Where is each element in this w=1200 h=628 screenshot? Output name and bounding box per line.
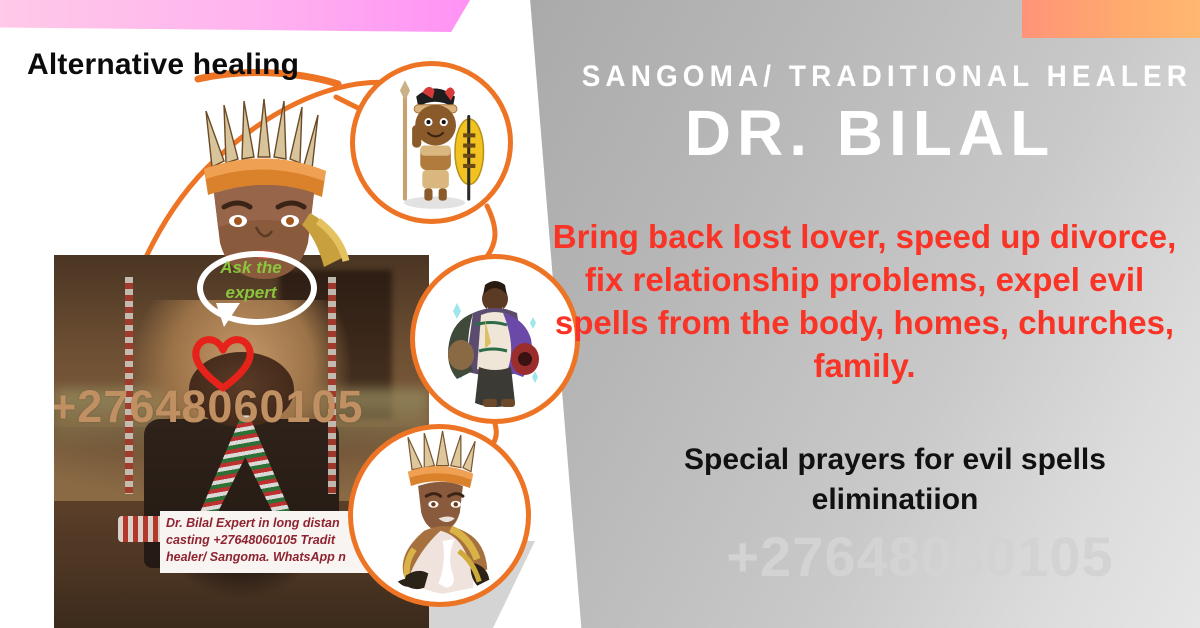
page-title: Alternative healing [27,48,299,82]
photo-caption: Dr. Bilal Expert in long distan casting … [160,511,378,573]
circle-zulu-dancer-illustration [348,424,531,607]
circle-zulu-warrior-cartoon [350,61,513,224]
poster-canvas: Alternative healing [0,0,1200,628]
top-orange-bar [1022,0,1200,38]
caption-line-2: casting +27648060105 Tradit [166,532,372,549]
brand-name: DR. BILAL [560,100,1180,167]
services-red-text: Bring back lost lover, speed up divorce,… [542,216,1187,388]
kicker-text: SANGOMA/ TRADITIONAL HEALER [582,60,1159,94]
speech-bubble-text: Ask the expert [203,256,299,305]
special-prayers-text: Special prayers for evil spells eliminat… [600,440,1190,519]
watermark-phone: +27648060105 [640,524,1200,589]
speech-bubble-tail [216,303,240,327]
caption-line-1: Dr. Bilal Expert in long distan [166,515,372,532]
heart-icon [188,330,258,392]
caption-line-3: healer/ Sangoma. WhatsApp n [166,549,372,566]
top-pink-bar [0,0,470,32]
